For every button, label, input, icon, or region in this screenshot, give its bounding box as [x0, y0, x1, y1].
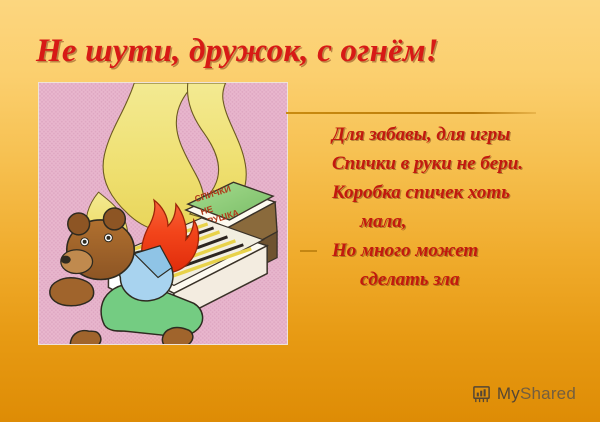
bear-eye-right [106, 236, 110, 240]
poem-line: Коробка спичек хоть [296, 178, 596, 207]
poem-line: Но много может [296, 236, 596, 265]
watermark-shared-text: Shared [520, 384, 576, 403]
poem-line: Для забавы, для игры [296, 120, 596, 149]
illustration-image: СПИЧКИ НЕ ИГРУШКА [38, 82, 288, 345]
poem-line: Спички в руки не бери. [296, 149, 596, 178]
bear-nose [61, 256, 71, 264]
horizontal-divider [286, 112, 536, 114]
myshared-watermark: MyShared [472, 384, 576, 404]
dash-bullet-icon [300, 250, 317, 252]
presentation-chart-icon [472, 385, 491, 404]
poem-line-text: сделать зла [360, 269, 459, 290]
poem-line: сделать зла [296, 265, 596, 294]
bear-foot-right [162, 328, 192, 344]
poem-line-text: Спички в руки не бери. [332, 153, 523, 174]
page-title: Не шути, дружок, с огнём! [36, 31, 476, 71]
bear-ear-left [68, 213, 90, 235]
bear-eye-left [83, 240, 87, 244]
illustration-svg: СПИЧКИ НЕ ИГРУШКА [39, 83, 287, 344]
poem-line: мала, [296, 207, 596, 236]
poem-line-text: Но много может [332, 240, 478, 261]
poem-line-text: мала, [360, 211, 407, 232]
poem-line-text: Коробка спичек хоть [332, 182, 510, 203]
bear-ear-right [103, 208, 125, 230]
watermark-my-text: My [497, 384, 520, 403]
slide-canvas: Не шути, дружок, с огнём! [0, 0, 600, 422]
poem-line-text: Для забавы, для игры [332, 124, 510, 145]
poem-text-block: Для забавы, для игры Спички в руки не бе… [296, 120, 596, 294]
bear-paw-front [50, 278, 94, 306]
